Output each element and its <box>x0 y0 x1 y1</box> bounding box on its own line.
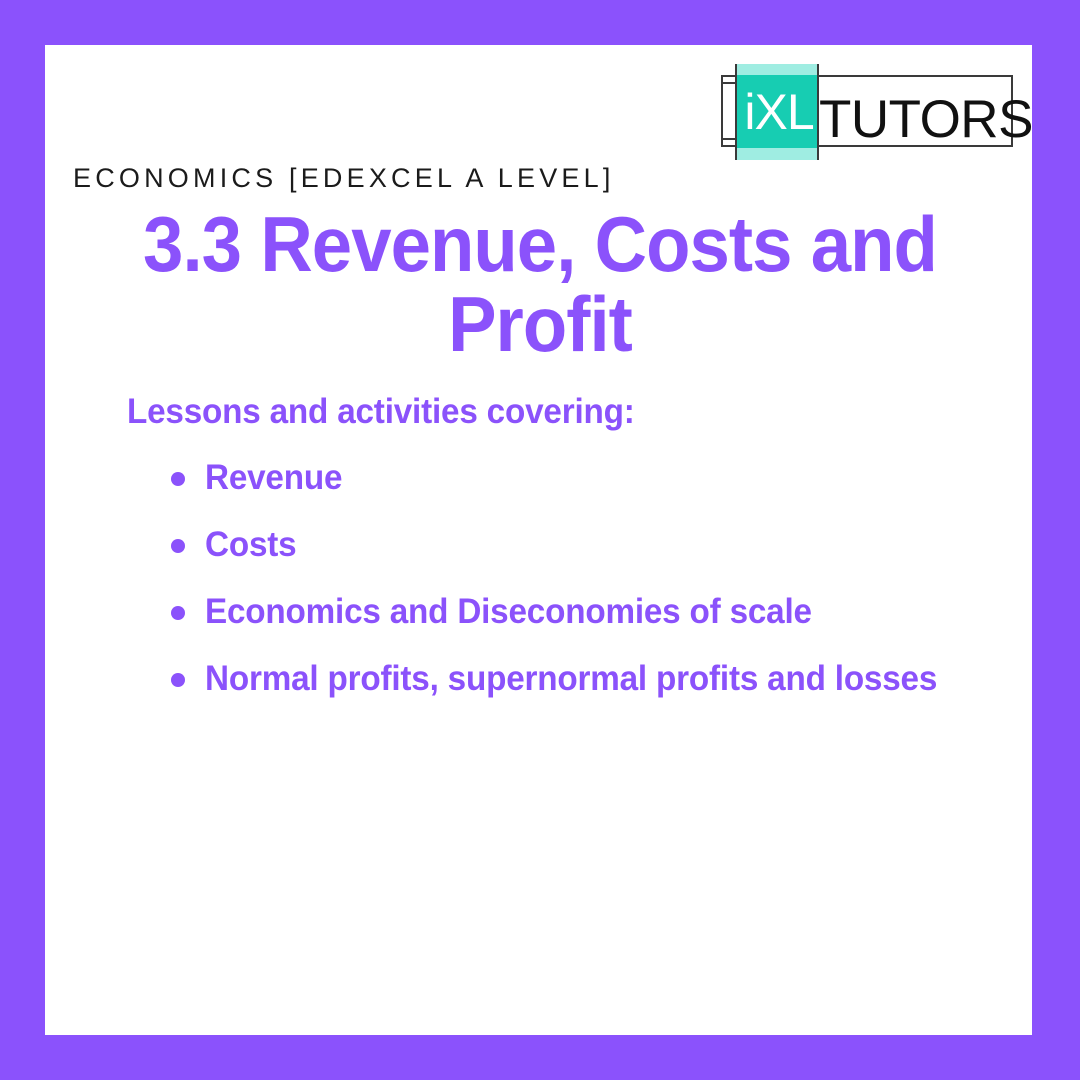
body-block: Lessons and activities covering: Revenue… <box>127 393 1007 718</box>
list-item-label: Economics and Diseconomies of scale <box>205 584 967 640</box>
bullet-dot-icon <box>171 673 185 687</box>
page-title: 3.3 Revenue, Costs and Profit <box>135 205 944 364</box>
lead-in-text: Lessons and activities covering: <box>127 393 963 432</box>
bullet-dot-icon <box>171 472 185 486</box>
ixl-tutors-logo[interactable]: TUTORS iXL <box>705 60 1015 165</box>
list-item: Costs <box>127 517 1007 573</box>
list-item: Revenue <box>127 450 1007 506</box>
list-item-label: Normal profits, supernormal profits and … <box>205 651 967 707</box>
logo-mark-ixl: iXL <box>737 75 821 148</box>
list-item-label: Costs <box>205 517 967 573</box>
slide-canvas: TUTORS iXL ECONOMICS [EDEXCEL A LEVEL] 3… <box>0 0 1080 1080</box>
bullet-dot-icon <box>171 539 185 553</box>
logo-teal-square: iXL <box>735 75 819 148</box>
content-card: TUTORS iXL ECONOMICS [EDEXCEL A LEVEL] 3… <box>45 45 1032 1035</box>
logo-wordmark-tutors: TUTORS <box>819 93 1033 146</box>
list-item: Normal profits, supernormal profits and … <box>127 651 1007 707</box>
subject-line: ECONOMICS [EDEXCEL A LEVEL] <box>73 163 615 194</box>
bullet-dot-icon <box>171 606 185 620</box>
list-item: Economics and Diseconomies of scale <box>127 584 1007 640</box>
topics-list: Revenue Costs Economics and Diseconomies… <box>127 450 1007 707</box>
list-item-label: Revenue <box>205 450 967 506</box>
